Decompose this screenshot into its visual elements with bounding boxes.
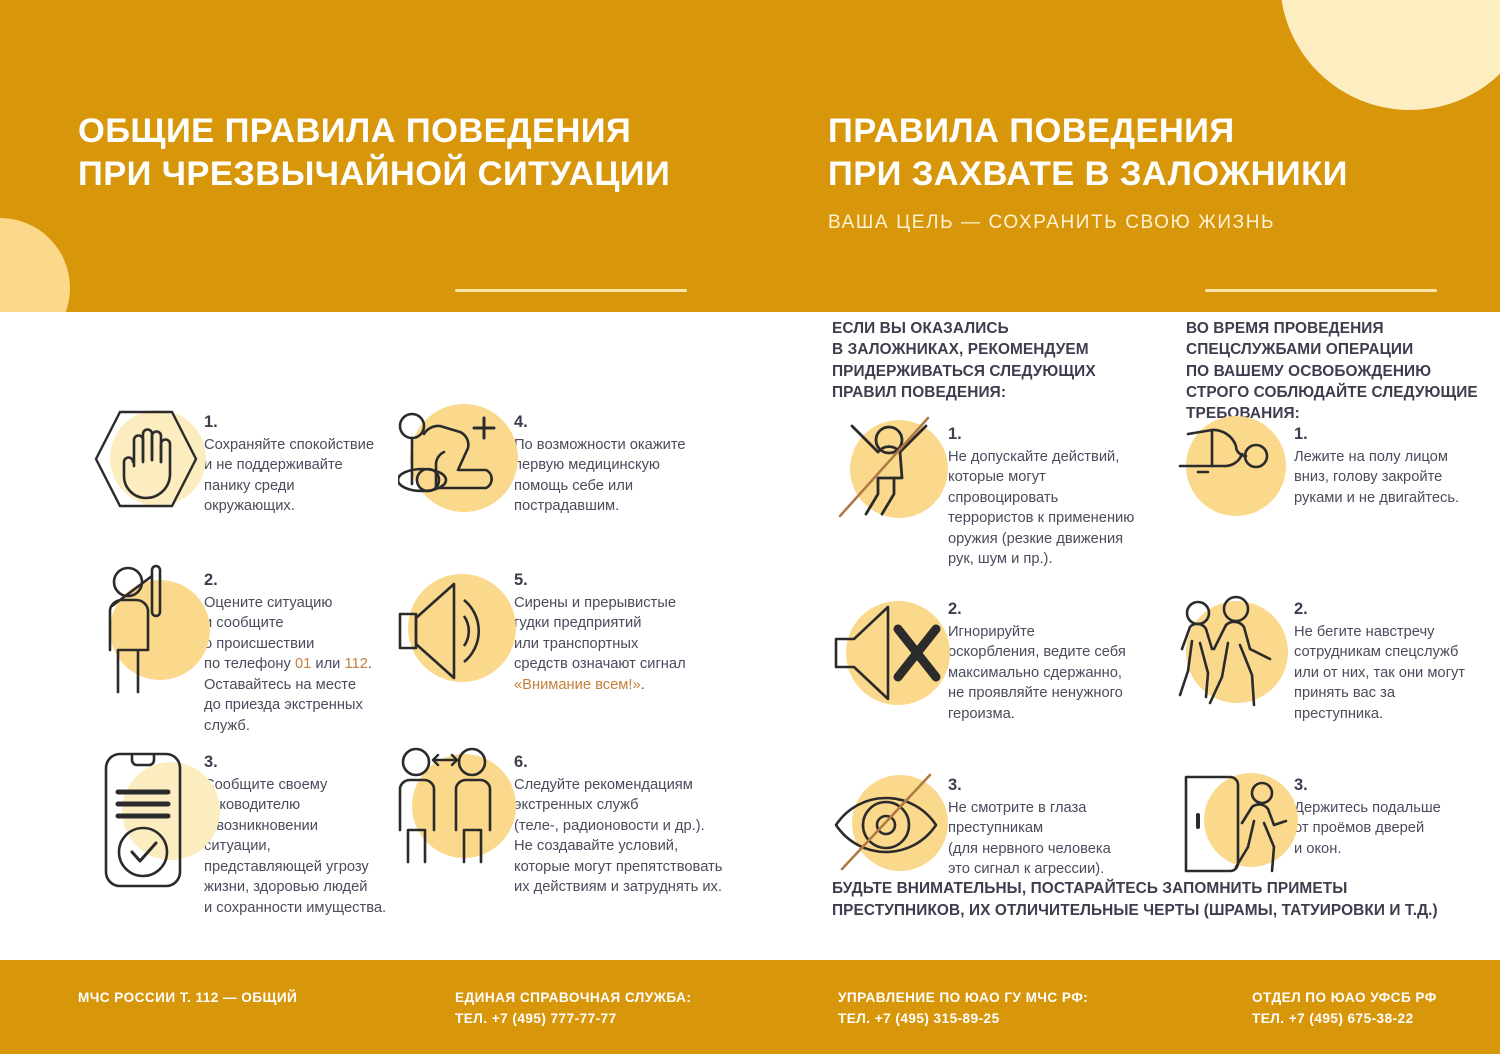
hand-stop-icon xyxy=(90,404,202,514)
list-item: 3. Сообщите своему руководителю о возник… xyxy=(88,740,388,910)
item-number: 1. xyxy=(948,426,1134,443)
list-item: 1. Лежите на полу лицом вниз, голову зак… xyxy=(1178,412,1488,587)
column-rescue: 1. Лежите на полу лицом вниз, голову зак… xyxy=(1178,412,1488,903)
column-hostage: 1. Не допускайте действий, которые могут… xyxy=(832,412,1172,903)
decorative-circle-top-right xyxy=(1280,0,1500,110)
item-number: 3. xyxy=(204,754,388,771)
item-number: 2. xyxy=(204,572,372,589)
item-description: Держитесь подальше от проёмов дверей и о… xyxy=(1294,798,1441,860)
siren-speaker-icon xyxy=(398,558,514,708)
no-sudden-movement-icon xyxy=(832,412,948,542)
footer-contact-helpline: ЕДИНАЯ СПРАВОЧНАЯ СЛУЖБА: ТЕЛ. +7 (495) … xyxy=(455,987,691,1029)
item-description: Игнорируйте оскорбления, ведите себя мак… xyxy=(948,622,1126,725)
footer-contact-uao-mchs: УПРАВЛЕНИЕ ПО ЮАО ГУ МЧС РФ: ТЕЛ. +7 (49… xyxy=(838,987,1088,1029)
lie-face-down-icon xyxy=(1178,412,1294,542)
no-eye-contact-icon xyxy=(832,763,948,887)
item-number: 1. xyxy=(204,414,374,431)
two-people-distance-icon xyxy=(398,740,514,900)
divider-right xyxy=(1205,289,1437,292)
list-item: 2. Не бегите навстречу сотрудникам спецс… xyxy=(1178,587,1488,763)
away-from-doors-icon xyxy=(1178,763,1294,887)
item-description: Не бегите навстречу сотрудникам спецслуж… xyxy=(1294,622,1465,725)
section-heading-hostage: ЕСЛИ ВЫ ОКАЗАЛИСЬ В ЗАЛОЖНИКАХ, РЕКОМЕНД… xyxy=(832,318,1182,403)
header-right-block: ПРАВИЛА ПОВЕДЕНИЯ ПРИ ЗАХВАТЕ В ЗАЛОЖНИК… xyxy=(828,110,1468,234)
list-item: 1. Сохраняйте спокойствие и не поддержив… xyxy=(88,400,388,558)
column-emergency-2: 4. По возможности окажите первую медицин… xyxy=(398,400,748,910)
list-item: 5. Сирены и прерывистые гудки предприяти… xyxy=(398,558,748,740)
item-description: Не смотрите в глаза преступникам (для не… xyxy=(948,798,1111,880)
item-description: Сирены и прерывистые гудки предприятий и… xyxy=(514,593,686,696)
item-text: 5. Сирены и прерывистые гудки предприяти… xyxy=(514,558,686,695)
icon-container xyxy=(398,400,514,518)
page-title-left: ОБЩИЕ ПРАВИЛА ПОВЕДЕНИЯ ПРИ ЧРЕЗВЫЧАЙНОЙ… xyxy=(78,110,788,196)
poster-header: ОБЩИЕ ПРАВИЛА ПОВЕДЕНИЯ ПРИ ЧРЕЗВЫЧАЙНОЙ… xyxy=(0,0,1500,312)
item-text: 6. Следуйте рекомендациям экстренных слу… xyxy=(514,740,722,898)
item-text: 2. Игнорируйте оскорбления, ведите себя … xyxy=(948,587,1126,724)
item-number: 2. xyxy=(948,601,1126,618)
icon-container xyxy=(88,400,204,518)
page-title-right: ПРАВИЛА ПОВЕДЕНИЯ ПРИ ЗАХВАТЕ В ЗАЛОЖНИК… xyxy=(828,110,1468,196)
item-description: По возможности окажите первую медицинску… xyxy=(514,435,686,517)
icon-container xyxy=(832,763,948,887)
item-text: 2. Оцените ситуацию и сообщите о происше… xyxy=(204,558,372,737)
item-text: 3. Не смотрите в глаза преступникам (для… xyxy=(948,763,1111,880)
item-number: 5. xyxy=(514,572,686,589)
header-subtitle: ВАША ЦЕЛЬ — СОХРАНИТЬ СВОЮ ЖИЗНЬ xyxy=(828,212,1468,234)
item-number: 3. xyxy=(948,777,1111,794)
infographic-poster: ОБЩИЕ ПРАВИЛА ПОВЕДЕНИЯ ПРИ ЧРЕЗВЫЧАЙНОЙ… xyxy=(0,0,1500,1054)
icon-container xyxy=(398,558,514,708)
item-number: 2. xyxy=(1294,601,1465,618)
item-description: Следуйте рекомендациям экстренных служб … xyxy=(514,775,722,898)
icon-container xyxy=(88,740,204,900)
footer-contact-ufsb: ОТДЕЛ ПО ЮАО УФСБ РФ ТЕЛ. +7 (495) 675-3… xyxy=(1252,987,1437,1029)
item-text: 3. Держитесь подальше от проёмов дверей … xyxy=(1294,763,1441,859)
person-report-icon xyxy=(90,558,202,708)
item-description: Не допускайте действий, которые могут сп… xyxy=(948,447,1134,570)
item-description: Сообщите своему руководителю о возникнов… xyxy=(204,775,388,919)
item-number: 4. xyxy=(514,414,686,431)
icon-container xyxy=(398,740,514,900)
poster-body: ЕСЛИ ВЫ ОКАЗАЛИСЬ В ЗАЛОЖНИКАХ, РЕКОМЕНД… xyxy=(0,312,1500,960)
mute-speaker-icon xyxy=(832,587,948,727)
decorative-circle-left xyxy=(0,218,70,312)
footer-contact-mchs: МЧС РОССИИ Т. 112 — ОБЩИЙ xyxy=(78,987,297,1008)
icon-container xyxy=(1178,587,1294,727)
icon-container xyxy=(832,587,948,727)
item-text: 4. По возможности окажите первую медицин… xyxy=(514,400,686,517)
divider-left xyxy=(455,289,687,292)
item-text: 1. Не допускайте действий, которые могут… xyxy=(948,412,1134,570)
item-number: 1. xyxy=(1294,426,1459,443)
phone-112-highlight: 112 xyxy=(344,656,367,672)
item-description: Оцените ситуацию и сообщите о происшеств… xyxy=(204,593,372,737)
item-text: 2. Не бегите навстречу сотрудникам спецс… xyxy=(1294,587,1465,724)
list-item: 2. Оцените ситуацию и сообщите о происше… xyxy=(88,558,388,740)
icon-container xyxy=(88,558,204,708)
first-aid-cpr-icon xyxy=(398,400,514,518)
section-heading-rescue: ВО ВРЕМЯ ПРОВЕДЕНИЯ СПЕЦСЛУЖБАМИ ОПЕРАЦИ… xyxy=(1186,318,1500,424)
item-text: 1. Сохраняйте спокойствие и не поддержив… xyxy=(204,400,374,517)
icon-container xyxy=(832,412,948,542)
do-not-run-icon xyxy=(1178,587,1294,727)
phone-01-highlight: 01 xyxy=(295,656,311,672)
column-emergency-1: 1. Сохраняйте спокойствие и не поддержив… xyxy=(88,400,388,910)
item-text: 1. Лежите на полу лицом вниз, голову зак… xyxy=(1294,412,1459,508)
list-item: 2. Игнорируйте оскорбления, ведите себя … xyxy=(832,587,1172,763)
attention-signal-highlight: «Внимание всем!» xyxy=(514,677,641,693)
item-description: Лежите на полу лицом вниз, голову закрой… xyxy=(1294,447,1459,509)
item-number: 3. xyxy=(1294,777,1441,794)
icon-container xyxy=(1178,412,1294,542)
item-description: Сохраняйте спокойствие и не поддерживайт… xyxy=(204,435,374,517)
phone-check-icon xyxy=(90,740,202,900)
list-item: 6. Следуйте рекомендациям экстренных слу… xyxy=(398,740,748,910)
item-number: 6. xyxy=(514,754,722,771)
header-left-block: ОБЩИЕ ПРАВИЛА ПОВЕДЕНИЯ ПРИ ЧРЕЗВЫЧАЙНОЙ… xyxy=(78,110,788,196)
item-text: 3. Сообщите своему руководителю о возник… xyxy=(204,740,388,919)
list-item: 4. По возможности окажите первую медицин… xyxy=(398,400,748,558)
icon-container xyxy=(1178,763,1294,887)
list-item: 1. Не допускайте действий, которые могут… xyxy=(832,412,1172,587)
